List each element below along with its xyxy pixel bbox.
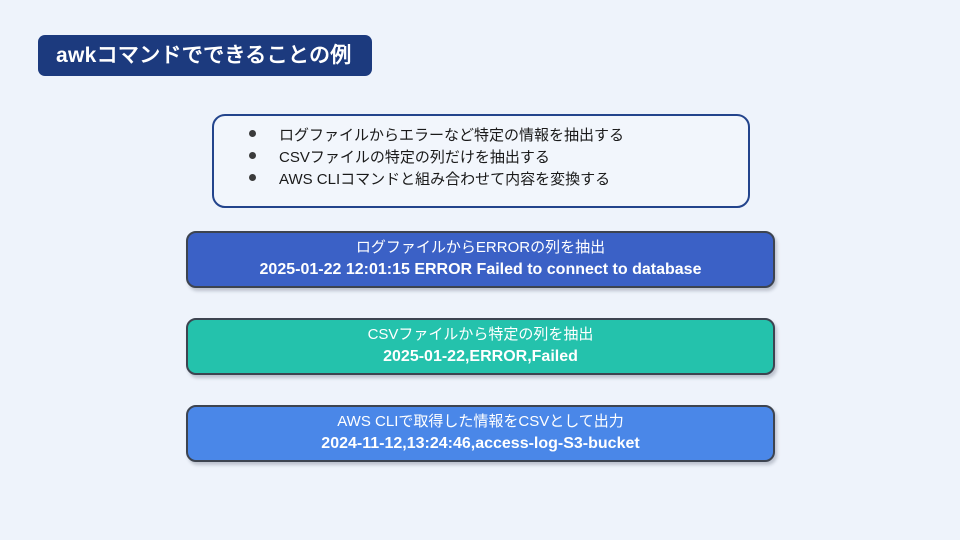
result-box-log: ログファイルからERRORの列を抽出 2025-01-22 12:01:15 E… [186, 231, 775, 288]
result-box-awscli: AWS CLIで取得した情報をCSVとして出力 2024-11-12,13:24… [186, 405, 775, 462]
list-item: ログファイルからエラーなど特定の情報を抽出する [234, 128, 730, 145]
bullet-dot-icon [249, 152, 256, 159]
result-caption: CSVファイルから特定の列を抽出 [368, 326, 594, 345]
list-item-label: CSVファイルの特定の列だけを抽出する [279, 150, 550, 167]
result-value: 2025-01-22 12:01:15 ERROR Failed to conn… [260, 260, 702, 280]
result-value: 2024-11-12,13:24:46,access-log-S3-bucket [321, 434, 639, 454]
result-caption: AWS CLIで取得した情報をCSVとして出力 [337, 413, 624, 432]
bullet-dot-icon [249, 174, 256, 181]
list-item-label: AWS CLIコマンドと組み合わせて内容を変換する [279, 172, 610, 189]
slide-canvas: awkコマンドでできることの例 ログファイルからエラーなど特定の情報を抽出する … [0, 0, 960, 540]
bullet-dot-icon [249, 130, 256, 137]
list-item-label: ログファイルからエラーなど特定の情報を抽出する [279, 128, 624, 145]
slide-title-banner: awkコマンドでできることの例 [38, 35, 372, 76]
capability-list-box: ログファイルからエラーなど特定の情報を抽出する CSVファイルの特定の列だけを抽… [212, 114, 750, 208]
result-caption: ログファイルからERRORの列を抽出 [356, 239, 605, 258]
page-title: awkコマンドでできることの例 [56, 45, 352, 66]
list-item: AWS CLIコマンドと組み合わせて内容を変換する [234, 172, 730, 189]
capability-list: ログファイルからエラーなど特定の情報を抽出する CSVファイルの特定の列だけを抽… [234, 128, 730, 188]
result-value: 2025-01-22,ERROR,Failed [383, 347, 578, 367]
result-box-csv: CSVファイルから特定の列を抽出 2025-01-22,ERROR,Failed [186, 318, 775, 375]
list-item: CSVファイルの特定の列だけを抽出する [234, 150, 730, 167]
